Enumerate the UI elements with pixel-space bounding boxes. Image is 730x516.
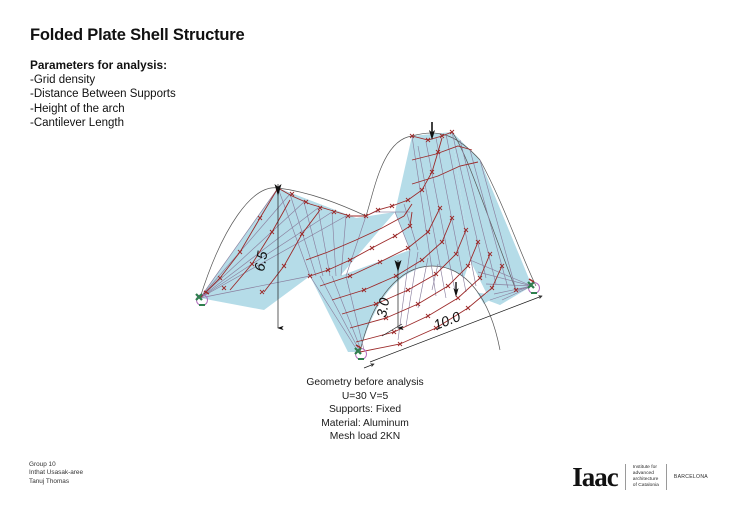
- iaac-logo: Iaac Institute for advanced architecture…: [572, 462, 708, 492]
- page-title: Folded Plate Shell Structure: [30, 26, 244, 45]
- dimension-label-3-0: 3.0: [373, 296, 392, 318]
- credit-author-2: Tanuj Thomas: [29, 478, 83, 486]
- credit-group: Group 10: [29, 461, 83, 469]
- parameter-item-grid-density: -Grid density: [30, 73, 176, 87]
- caption-line-material: Material: Aluminum: [0, 417, 730, 431]
- caption-line-supports: Supports: Fixed: [0, 403, 730, 417]
- parameters-block: Parameters for analysis: -Grid density -…: [30, 58, 176, 130]
- diagram-caption: Geometry before analysis U=30 V=5 Suppor…: [0, 376, 730, 444]
- footer-credits: Group 10 Inthat Usasak-aree Tanuj Thomas: [29, 461, 83, 486]
- caption-line-uv: U=30 V=5: [0, 390, 730, 404]
- slide-canvas: Folded Plate Shell Structure Parameters …: [0, 0, 730, 516]
- iaac-logo-mark: Iaac: [572, 464, 625, 491]
- parameter-item-height-of-the-arch: -Height of the arch: [30, 102, 176, 116]
- credit-author-1: Inthat Usasak-aree: [29, 469, 83, 477]
- parameter-item-cantilever-length: -Cantilever Length: [30, 116, 176, 130]
- iaac-logo-description: Institute for advanced architecture of C…: [626, 465, 666, 489]
- iaac-logo-city: BARCELONA: [667, 474, 708, 480]
- caption-line-mesh-load: Mesh load 2KN: [0, 430, 730, 444]
- caption-line-geometry: Geometry before analysis: [0, 376, 730, 390]
- structure-diagram: 6.5 3.0 10.0: [160, 100, 580, 390]
- parameters-heading: Parameters for analysis:: [30, 58, 176, 72]
- parameter-item-distance-between-supports: -Distance Between Supports: [30, 87, 176, 101]
- shell-structure-svg: 6.5 3.0 10.0: [160, 100, 580, 390]
